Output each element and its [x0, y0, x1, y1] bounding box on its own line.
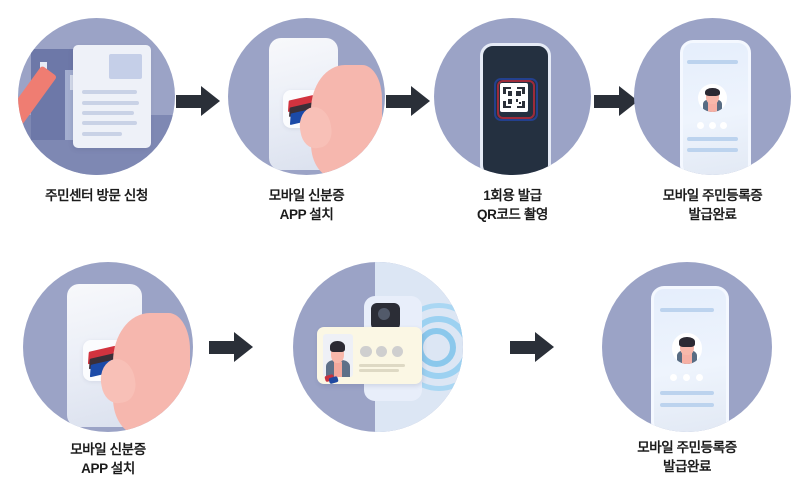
step-2-label-line2: APP 설치 — [210, 205, 403, 224]
id-dot — [720, 122, 727, 129]
card-text-line — [359, 364, 405, 367]
ic-id-card — [317, 327, 422, 385]
step-3-label-line2: QR코드 촬영 — [416, 205, 609, 224]
arrow-step1-to-step2 — [176, 84, 220, 118]
hand-tap-phone-app-icon — [23, 262, 193, 432]
avatar — [672, 333, 703, 364]
arrow-step3-to-step4 — [594, 84, 638, 118]
form-line — [82, 111, 134, 115]
card-text-line — [359, 369, 399, 372]
step-2-label-line1: 모바일 신분증 — [269, 188, 344, 203]
form-line — [82, 101, 139, 105]
photo-shirt — [334, 362, 342, 378]
arrow-head — [201, 86, 220, 116]
step-4-label-line1: 모바일 주민등록증 — [663, 188, 763, 203]
mobile-id-card-phone-icon — [602, 262, 772, 432]
step-3-illustration — [434, 18, 591, 175]
form-line — [82, 132, 121, 136]
step-7-illustration — [602, 262, 772, 432]
qr-scan-phone-icon — [434, 18, 591, 175]
form-line — [82, 121, 137, 125]
arrow-step6-to-step7 — [510, 330, 554, 364]
step-1-illustration — [18, 18, 175, 175]
card-photo — [323, 334, 353, 378]
id-info-bar — [660, 403, 714, 407]
qr-code-icon — [500, 83, 528, 111]
step-7-label-line2: 발급완료 — [588, 457, 786, 476]
step-7-label-line1: 모바일 주민등록증 — [637, 440, 737, 455]
id-dot — [683, 374, 690, 381]
card-dot — [392, 346, 404, 358]
card-dot — [376, 346, 388, 358]
id-title-bar — [660, 308, 714, 312]
arrow-head — [234, 332, 253, 362]
step-1-label: 주민센터 방문 신청 — [0, 186, 193, 205]
document-pen-icon — [18, 18, 175, 175]
mobile-id-card-phone-icon — [634, 18, 791, 175]
ic-card-nfc-tag-icon — [293, 262, 463, 432]
photo-hair — [330, 341, 345, 352]
avatar-hair — [679, 337, 694, 346]
step-4-label: 모바일 주민등록증 발급완료 — [616, 186, 800, 224]
step-2-illustration — [228, 18, 385, 175]
form-line — [82, 90, 137, 94]
avatar-hair — [705, 88, 719, 96]
step-3-label-line1: 1회용 발급 — [483, 188, 542, 203]
step-4-illustration — [634, 18, 791, 175]
step-2-label: 모바일 신분증 APP 설치 — [210, 186, 403, 224]
step-3-label: 1회용 발급 QR코드 촬영 — [416, 186, 609, 224]
id-title-bar — [687, 60, 737, 64]
step-7-label: 모바일 주민등록증 발급완료 — [588, 438, 786, 476]
arrow-head — [535, 332, 554, 362]
id-info-bar — [687, 137, 737, 141]
id-info-bar — [660, 391, 714, 395]
step-5-illustration — [23, 262, 193, 432]
step-5-label: 모바일 신분증 APP 설치 — [9, 440, 207, 478]
card-dot — [360, 346, 372, 358]
step-5-label-line2: APP 설치 — [9, 459, 207, 478]
id-dot — [709, 122, 716, 129]
arrow-head — [411, 86, 430, 116]
step-4-label-line2: 발급완료 — [616, 205, 800, 224]
step-6-illustration — [293, 262, 463, 432]
arrow-shaft — [510, 341, 537, 354]
application-form — [73, 45, 152, 149]
step-1-label-line1: 주민센터 방문 신청 — [45, 188, 148, 203]
arrow-shaft — [386, 95, 413, 108]
arrow-shaft — [209, 341, 236, 354]
arrow-step5-to-step6 — [209, 330, 253, 364]
arrow-shaft — [594, 95, 621, 108]
camera-lens — [378, 308, 390, 320]
arrow-step2-to-step3 — [386, 84, 430, 118]
form-photo-box — [109, 54, 142, 79]
id-info-bar — [687, 148, 737, 152]
hand-tap-phone-app-icon — [228, 18, 385, 175]
flow-diagram-board: 주민센터 방문 신청 모바일 신분증 APP 설치 — [0, 0, 800, 490]
arrow-shaft — [176, 95, 203, 108]
avatar — [698, 84, 726, 112]
step-5-label-line1: 모바일 신분증 — [70, 442, 145, 457]
id-dot — [696, 374, 703, 381]
id-dot — [697, 122, 704, 129]
